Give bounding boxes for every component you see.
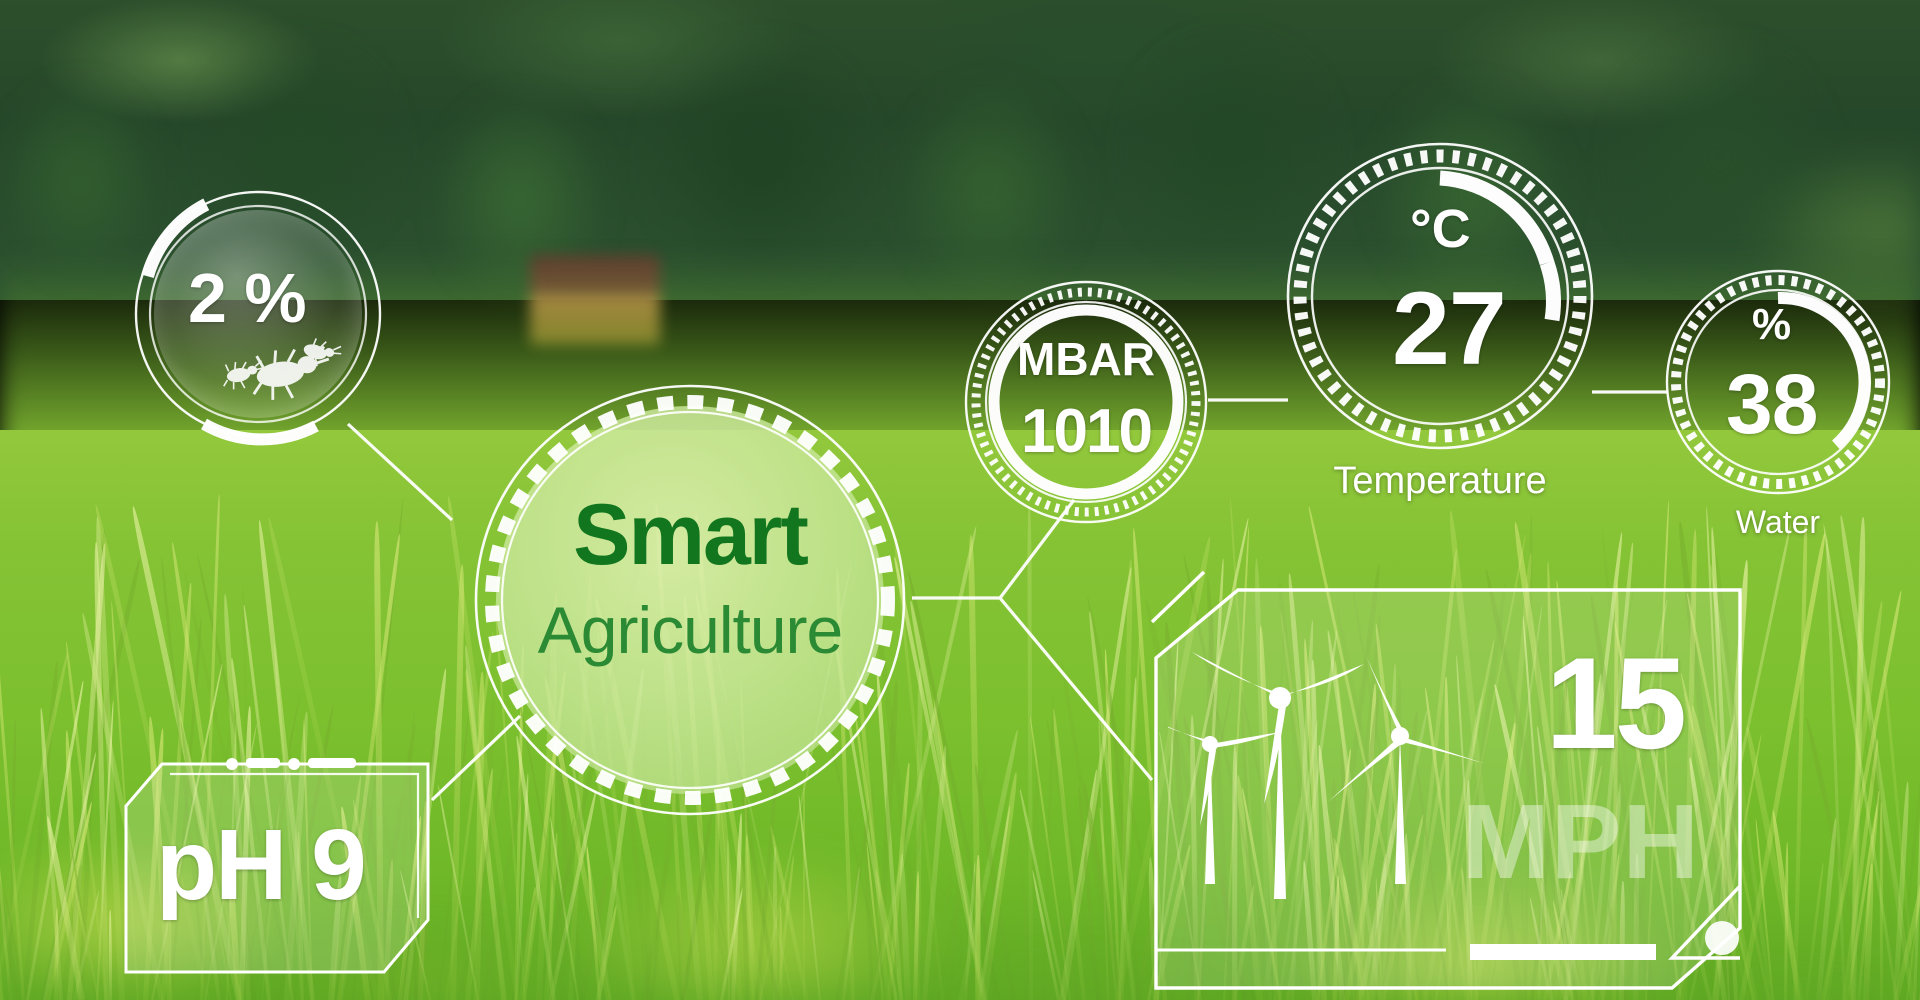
widget-soil-ph[interactable]: pH 9	[122, 760, 432, 976]
widget-smart-agriculture-badge[interactable]: Smart Agriculture	[470, 380, 910, 820]
widget-pressure[interactable]: MBAR 1010	[962, 278, 1210, 526]
wind-turbine-icon	[1168, 634, 1498, 974]
center-title-smart: Smart	[470, 486, 910, 585]
pressure-value: 1010	[962, 396, 1210, 467]
pest-value: 2 %	[188, 258, 306, 338]
water-value: 38	[1726, 356, 1817, 453]
wind-value: 15	[1545, 628, 1684, 778]
wind-unit: MPH	[1461, 782, 1700, 903]
temperature-unit: °C	[1410, 198, 1471, 260]
water-caption: Water	[1654, 504, 1902, 541]
widget-wind-speed[interactable]: 15 MPH	[1152, 586, 1744, 992]
insect-pest-icon	[216, 332, 346, 408]
temperature-caption: Temperature	[1274, 460, 1606, 503]
ph-value: pH 9	[156, 808, 365, 923]
center-title-agriculture: Agriculture	[470, 592, 910, 668]
water-unit: %	[1752, 300, 1791, 350]
widget-temperature[interactable]: °C 27 Temperature	[1284, 140, 1596, 452]
temperature-value: 27	[1392, 270, 1506, 389]
widget-water[interactable]: % 38 Water	[1664, 268, 1892, 496]
smart-agriculture-infographic: 2 %	[0, 0, 1920, 1000]
pressure-label: MBAR	[962, 332, 1210, 386]
widget-pest-level[interactable]: 2 %	[132, 188, 384, 440]
